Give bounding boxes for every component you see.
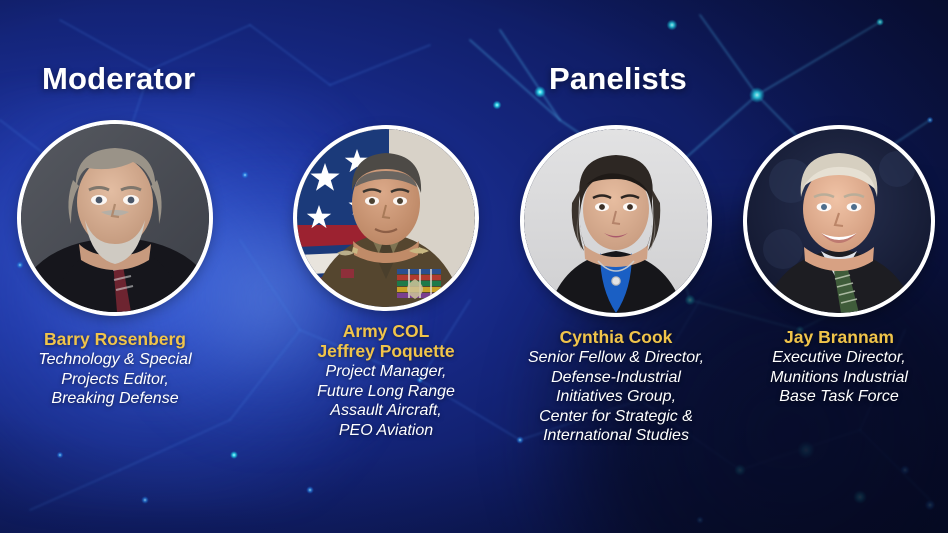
- person-card-panelist-3: Jay Brannam Executive Director, Munition…: [730, 129, 948, 407]
- avatar-jay-brannam: [747, 129, 931, 313]
- heading-moderator: Moderator: [42, 61, 195, 97]
- person-role: Technology & Special Projects Editor, Br…: [0, 350, 230, 409]
- person-name: Army COL Jeffrey Poquette: [270, 321, 502, 361]
- slide-canvas: Moderator Panelists: [0, 0, 948, 533]
- portrait-photo-jay-brannam: [747, 129, 931, 313]
- person-name: Barry Rosenberg: [0, 329, 230, 349]
- person-card-panelist-2: Cynthia Cook Senior Fellow & Director, D…: [500, 129, 732, 446]
- person-role: Executive Director, Munitions Industrial…: [730, 348, 948, 407]
- person-name: Jay Brannam: [730, 327, 948, 347]
- portrait-photo-cynthia-cook: [524, 129, 708, 313]
- portrait-photo-jeffrey-poquette: [297, 129, 475, 307]
- person-role: Project Manager, Future Long Range Assau…: [270, 362, 502, 440]
- person-role: Senior Fellow & Director, Defense-Indust…: [500, 348, 732, 446]
- person-name: Cynthia Cook: [500, 327, 732, 347]
- heading-panelists: Panelists: [549, 61, 687, 97]
- avatar-cynthia-cook: [524, 129, 708, 313]
- person-card-moderator: Barry Rosenberg Technology & Special Pro…: [0, 124, 230, 409]
- portrait-photo-barry-rosenberg: [21, 124, 209, 312]
- person-card-panelist-1: Army COL Jeffrey Poquette Project Manage…: [270, 129, 502, 440]
- avatar-jeffrey-poquette: [297, 129, 475, 307]
- avatar-barry-rosenberg: [21, 124, 209, 312]
